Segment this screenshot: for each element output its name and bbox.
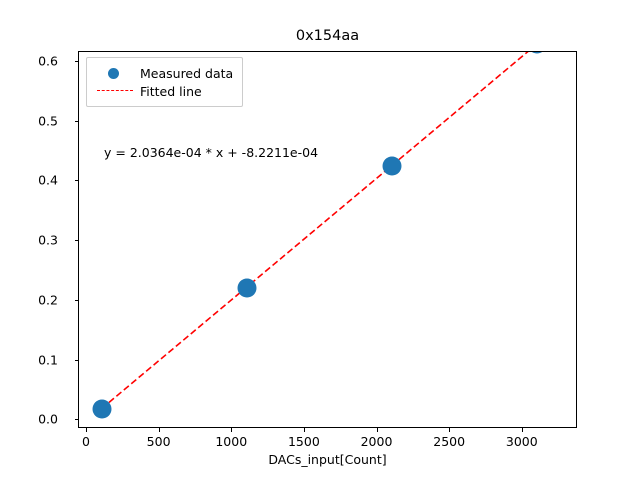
legend-label-fitted: Fitted line <box>135 84 202 99</box>
y-tick-label: 0.5 <box>38 113 58 128</box>
x-tick-label: 2500 <box>433 434 465 449</box>
x-tick-label: 0 <box>82 434 90 449</box>
legend-key-fitted <box>95 82 135 100</box>
y-tick-label: 0.1 <box>38 352 58 367</box>
data-layer <box>79 52 576 427</box>
data-point <box>383 157 402 176</box>
legend-item-measured-data: Measured data <box>95 64 233 82</box>
y-tick-mark <box>75 300 79 301</box>
x-tick-label: 3000 <box>506 434 538 449</box>
y-tick-label: 0.0 <box>38 412 58 427</box>
x-tick-mark <box>159 428 160 432</box>
circle-marker-icon <box>108 68 119 79</box>
fitted-line <box>79 52 576 427</box>
y-tick-label: 0.3 <box>38 233 58 248</box>
data-point <box>92 399 111 418</box>
dashed-line-icon <box>97 90 133 91</box>
x-tick-label: 2000 <box>361 434 393 449</box>
fit-equation-annotation: y = 2.0364e-04 * x + -8.2211e-04 <box>104 145 318 160</box>
x-tick-mark <box>449 428 450 432</box>
chart-legend: Measured data Fitted line <box>86 57 243 107</box>
y-tick-mark <box>75 61 79 62</box>
x-tick-mark <box>231 428 232 432</box>
x-tick-mark <box>304 428 305 432</box>
x-tick-label: 500 <box>147 434 171 449</box>
data-point <box>237 278 256 297</box>
y-tick-mark <box>75 360 79 361</box>
plot-area <box>78 51 577 428</box>
y-tick-mark <box>75 240 79 241</box>
x-tick-mark <box>377 428 378 432</box>
x-tick-mark <box>522 428 523 432</box>
legend-item-fitted-line: Fitted line <box>95 82 233 100</box>
x-tick-mark <box>86 428 87 432</box>
x-axis-label: DACs_input[Count] <box>78 452 577 467</box>
y-tick-mark <box>75 180 79 181</box>
y-tick-label: 0.2 <box>38 292 58 307</box>
x-tick-label: 1500 <box>288 434 320 449</box>
legend-label-measured: Measured data <box>135 66 233 81</box>
y-tick-label: 0.4 <box>38 173 58 188</box>
y-tick-label: 0.6 <box>38 53 58 68</box>
chart-title: 0x154aa <box>78 27 577 45</box>
matplotlib-figure: 0x154aa 050010001500200025003000 0.00.10… <box>0 0 640 480</box>
y-tick-mark <box>75 121 79 122</box>
y-tick-mark <box>75 419 79 420</box>
x-tick-label: 1000 <box>215 434 247 449</box>
legend-key-measured <box>95 64 135 82</box>
